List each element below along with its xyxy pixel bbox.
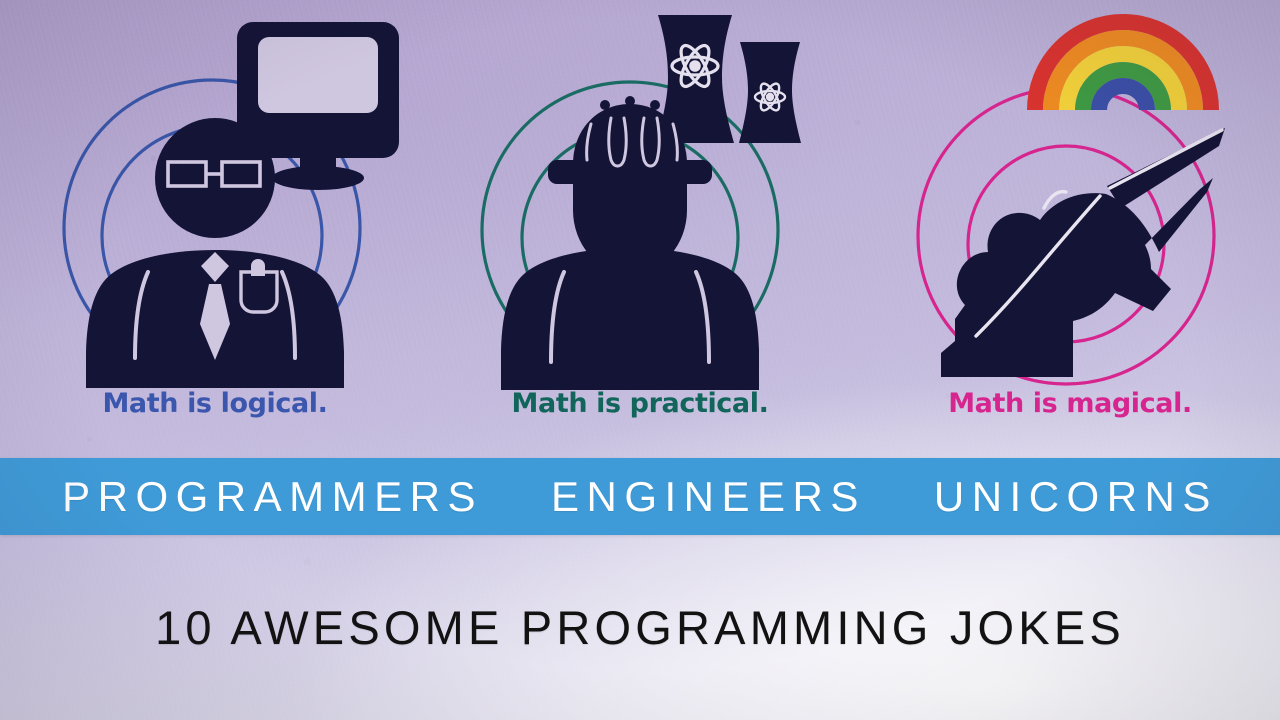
banner-word-programmers: PROGRAMMERS bbox=[62, 476, 483, 518]
caption-unicorns: Math is magical. bbox=[860, 390, 1280, 417]
engineer-illustration bbox=[425, 0, 855, 390]
banner-word-engineers: ENGINEERS bbox=[551, 476, 866, 518]
title-card: Math is logical. bbox=[0, 0, 1280, 720]
panel-programmers: Math is logical. bbox=[0, 0, 430, 458]
person-with-hardhat-icon bbox=[501, 182, 759, 390]
banner-word-unicorns: UNICORNS bbox=[934, 476, 1218, 518]
rainbow-icon bbox=[1035, 22, 1211, 110]
headline-area: 10 AWESOME PROGRAMMING JOKES bbox=[0, 535, 1280, 720]
panel-engineers: Math is practical. bbox=[425, 0, 855, 458]
caption-programmers: Math is logical. bbox=[0, 390, 430, 417]
category-banner: PROGRAMMERS ENGINEERS UNICORNS bbox=[0, 458, 1280, 535]
unicorn-illustration bbox=[860, 0, 1280, 390]
panel-unicorns: Math is magical. bbox=[860, 0, 1280, 458]
caption-engineers: Math is practical. bbox=[425, 390, 855, 417]
cooling-tower-icon bbox=[656, 15, 801, 143]
programmer-illustration bbox=[0, 0, 430, 390]
headline-title: 10 AWESOME PROGRAMMING JOKES bbox=[155, 604, 1125, 651]
